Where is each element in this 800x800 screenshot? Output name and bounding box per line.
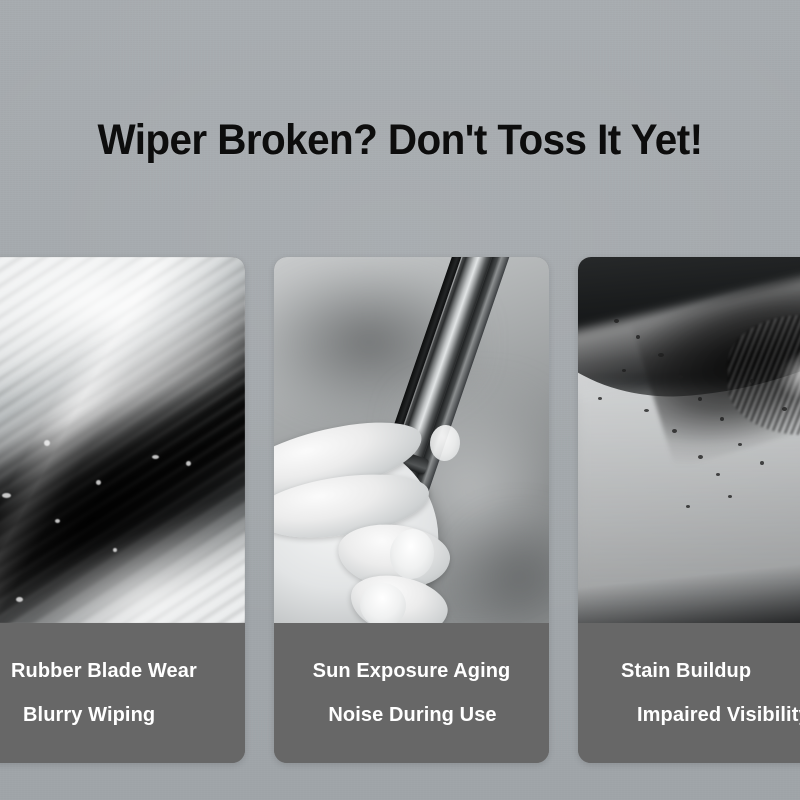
feature-card-rubber-blade-wear[interactable]: Rubber Blade Wear Blurry Wiping [0,257,245,763]
page-title: Wiper Broken? Don't Toss It Yet! [24,118,776,163]
feature-card-sun-exposure-aging[interactable]: Sun Exposure Aging Noise During Use [274,257,549,763]
dirty-windshield-photo [578,257,800,623]
windshield-streaks-photo [0,257,245,623]
card-caption: Sun Exposure Aging Noise During Use [274,623,549,763]
card-caption: Rubber Blade Wear Blurry Wiping [0,623,245,763]
hand-holding-wiper-photo [274,257,549,623]
card-caption: Stain Buildup Impaired Visibility [578,623,800,763]
caption-line-2: Blurry Wiping [23,704,155,727]
caption-line-2: Noise During Use [328,704,496,727]
feature-card-strip: Rubber Blade Wear Blurry Wiping [0,257,800,764]
caption-line-1: Sun Exposure Aging [313,660,511,683]
caption-line-1: Rubber Blade Wear [11,660,197,683]
caption-line-1: Stain Buildup [621,660,751,683]
feature-card-stain-buildup[interactable]: Stain Buildup Impaired Visibility [578,257,800,763]
caption-line-2: Impaired Visibility [637,704,800,727]
promo-banner: Wiper Broken? Don't Toss It Yet! [0,0,800,800]
water-droplets [0,257,245,623]
